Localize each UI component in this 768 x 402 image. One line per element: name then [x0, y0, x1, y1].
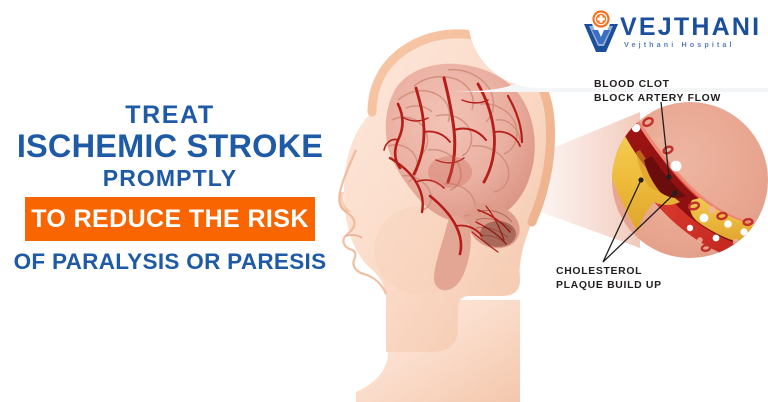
headline-block: TREAT ISCHEMIC STROKE PROMPTLY TO REDUCE… — [0, 102, 340, 275]
callout-cholesterol-line-2: PLAQUE BUILD UP — [556, 279, 662, 293]
headline-line-3: PROMPTLY — [0, 165, 340, 191]
brand-tagline: Vejthani Hospital — [624, 40, 735, 49]
callout-blood-clot-line-1: BLOOD CLOT — [594, 78, 721, 92]
headline-line-1: TREAT — [0, 102, 340, 129]
brand-name: VEJTHANI — [620, 14, 761, 40]
callout-cholesterol-line-1: CHOLESTEROL — [556, 265, 662, 279]
infographic-canvas: VEJTHANI Vejthani Hospital TREAT ISCHEMI… — [0, 0, 768, 402]
callout-cholesterol: CHOLESTEROL PLAQUE BUILD UP — [556, 265, 662, 292]
callout-blood-clot-line-2: BLOCK ARTERY FLOW — [594, 92, 721, 106]
headline-highlight-bar: TO REDUCE THE RISK — [25, 197, 315, 241]
brand-logo[interactable]: VEJTHANI Vejthani Hospital — [580, 10, 750, 56]
headline-line-5: OF PARALYSIS OR PARESIS — [0, 249, 340, 275]
callout-blood-clot: BLOOD CLOT BLOCK ARTERY FLOW — [594, 78, 721, 105]
headline-highlight-text: TO REDUCE THE RISK — [31, 205, 309, 234]
headline-line-2: ISCHEMIC STROKE — [0, 128, 340, 164]
